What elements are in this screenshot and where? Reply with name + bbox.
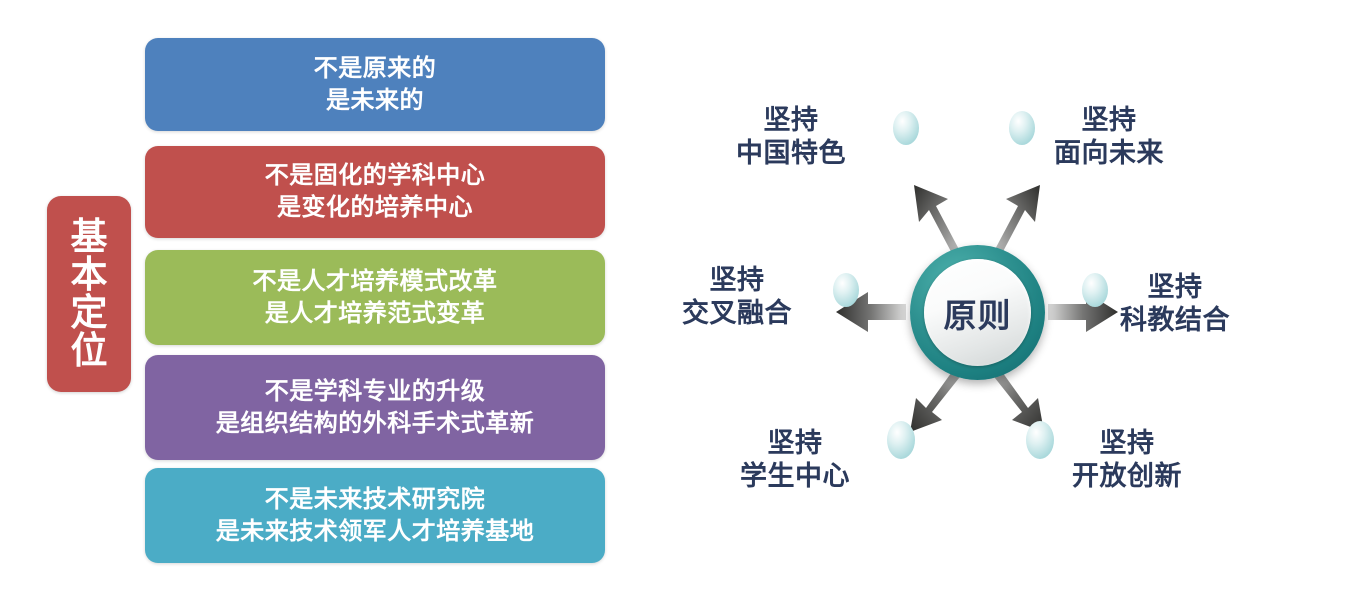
bubble-down-right [1026,421,1054,459]
bubble-left [833,273,859,307]
vertical-tag-char-4: 位 [71,332,108,370]
node-label-2-line1: 坚持 [1054,105,1164,138]
node-label-face-the-future: 坚持 面向未来 [1054,105,1164,171]
statement-bar-5: 不是未来技术研究院 是未来技术领军人才培养基地 [145,468,605,563]
node-label-2-line2: 面向未来 [1054,138,1164,171]
statement-bar-2-line2: 是变化的培养中心 [277,192,473,224]
statement-bar-3-line1: 不是人才培养模式改革 [253,266,498,298]
node-label-4-line1: 坚持 [1120,272,1230,305]
statement-bar-4: 不是学科专业的升级 是组织结构的外科手术式革新 [145,355,605,460]
center-hub: 原则 [910,245,1045,380]
statement-bar-5-line2: 是未来技术领军人才培养基地 [216,516,535,548]
bubble-down-left [887,421,915,459]
bubble-right [1082,273,1108,307]
basic-positioning-panel: 基 本 定 位 不是原来的 是未来的 不是固化的学科中心 是变化的培养中心 不是… [0,0,640,602]
center-hub-label: 原则 [944,289,1012,337]
center-hub-disc: 原则 [924,259,1031,366]
statement-bar-5-line1: 不是未来技术研究院 [265,484,486,516]
node-label-science-education: 坚持 科教结合 [1120,272,1230,338]
node-label-china-characteristics: 坚持 中国特色 [736,105,846,171]
node-label-1-line2: 中国特色 [736,138,846,171]
node-label-cross-integration: 坚持 交叉融合 [682,265,792,331]
node-label-6-line1: 坚持 [1072,428,1182,461]
vertical-tag-char-1: 基 [71,218,108,256]
node-label-3-line1: 坚持 [682,265,792,298]
statement-bar-4-line1: 不是学科专业的升级 [265,376,486,408]
node-label-5-line1: 坚持 [740,428,850,461]
statement-bar-3-line2: 是人才培养范式变革 [265,298,486,330]
node-label-student-centered: 坚持 学生中心 [740,428,850,494]
principles-radial-diagram: 原则 坚持 中国特色 坚持 面向未来 坚持 交叉融合 坚持 科教结合 坚持 学生… [640,0,1364,602]
statement-bar-1-line2: 是未来的 [326,85,424,117]
vertical-tag-char-3: 定 [71,294,108,332]
statement-bar-2: 不是固化的学科中心 是变化的培养中心 [145,146,605,238]
node-label-open-innovation: 坚持 开放创新 [1072,428,1182,494]
vertical-category-tag: 基 本 定 位 [47,196,131,392]
node-label-1-line1: 坚持 [736,105,846,138]
statement-bar-1: 不是原来的 是未来的 [145,38,605,131]
statement-bar-4-line2: 是组织结构的外科手术式革新 [216,408,535,440]
node-label-4-line2: 科教结合 [1120,305,1230,338]
node-label-6-line2: 开放创新 [1072,461,1182,494]
statement-bar-3: 不是人才培养模式改革 是人才培养范式变革 [145,250,605,345]
bubble-up-right [1009,111,1035,145]
arrow-right [1048,292,1118,332]
statement-bar-1-line1: 不是原来的 [314,53,437,85]
node-label-3-line2: 交叉融合 [682,298,792,331]
statement-bar-2-line1: 不是固化的学科中心 [265,160,486,192]
bubble-up-left [893,111,919,145]
node-label-5-line2: 学生中心 [740,461,850,494]
vertical-tag-char-2: 本 [71,256,108,294]
